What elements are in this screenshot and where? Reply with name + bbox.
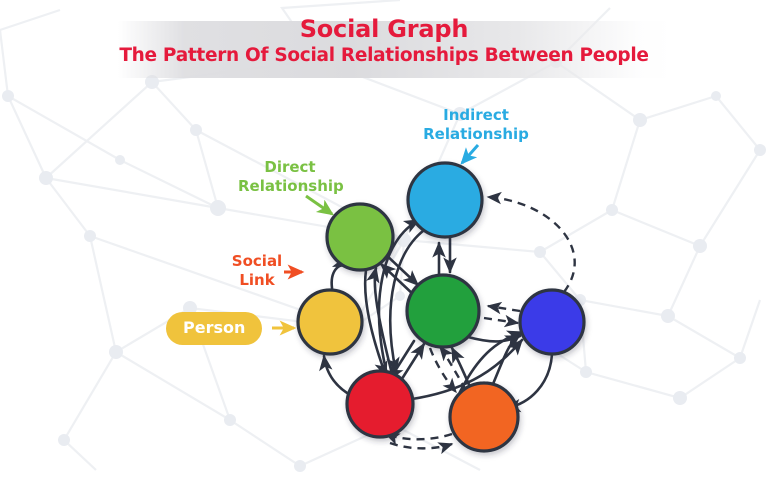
direct-relationship-arrow-icon bbox=[306, 196, 332, 214]
node-orange[interactable] bbox=[450, 383, 518, 451]
node-yellow[interactable] bbox=[298, 290, 362, 354]
social-graph bbox=[0, 0, 768, 492]
edge-cyan-dark-green bbox=[439, 238, 450, 277]
edge-yellow-to-light-green bbox=[332, 265, 348, 288]
indirect-relationship-arrow-icon bbox=[462, 145, 478, 163]
social-link-label: Social Link bbox=[216, 252, 298, 290]
node-red[interactable] bbox=[347, 371, 413, 437]
edge-red-to-yellow bbox=[324, 356, 352, 396]
node-light-green[interactable] bbox=[327, 204, 393, 270]
edge-blue-dark-green-indirect bbox=[484, 306, 520, 323]
person-legend-badge: Person bbox=[166, 312, 262, 345]
edge-red-orange-indirect bbox=[386, 434, 452, 448]
infographic-canvas: Social Graph The Pattern Of Social Relat… bbox=[0, 0, 768, 492]
node-blue[interactable] bbox=[520, 290, 584, 354]
direct-relationship-label: Direct Relationship bbox=[238, 158, 342, 196]
node-cyan[interactable] bbox=[408, 163, 482, 237]
indirect-relationship-label: Indirect Relationship bbox=[418, 106, 534, 144]
node-dark-green[interactable] bbox=[407, 275, 479, 347]
edge-blue-to-cyan-indirect bbox=[488, 197, 575, 292]
